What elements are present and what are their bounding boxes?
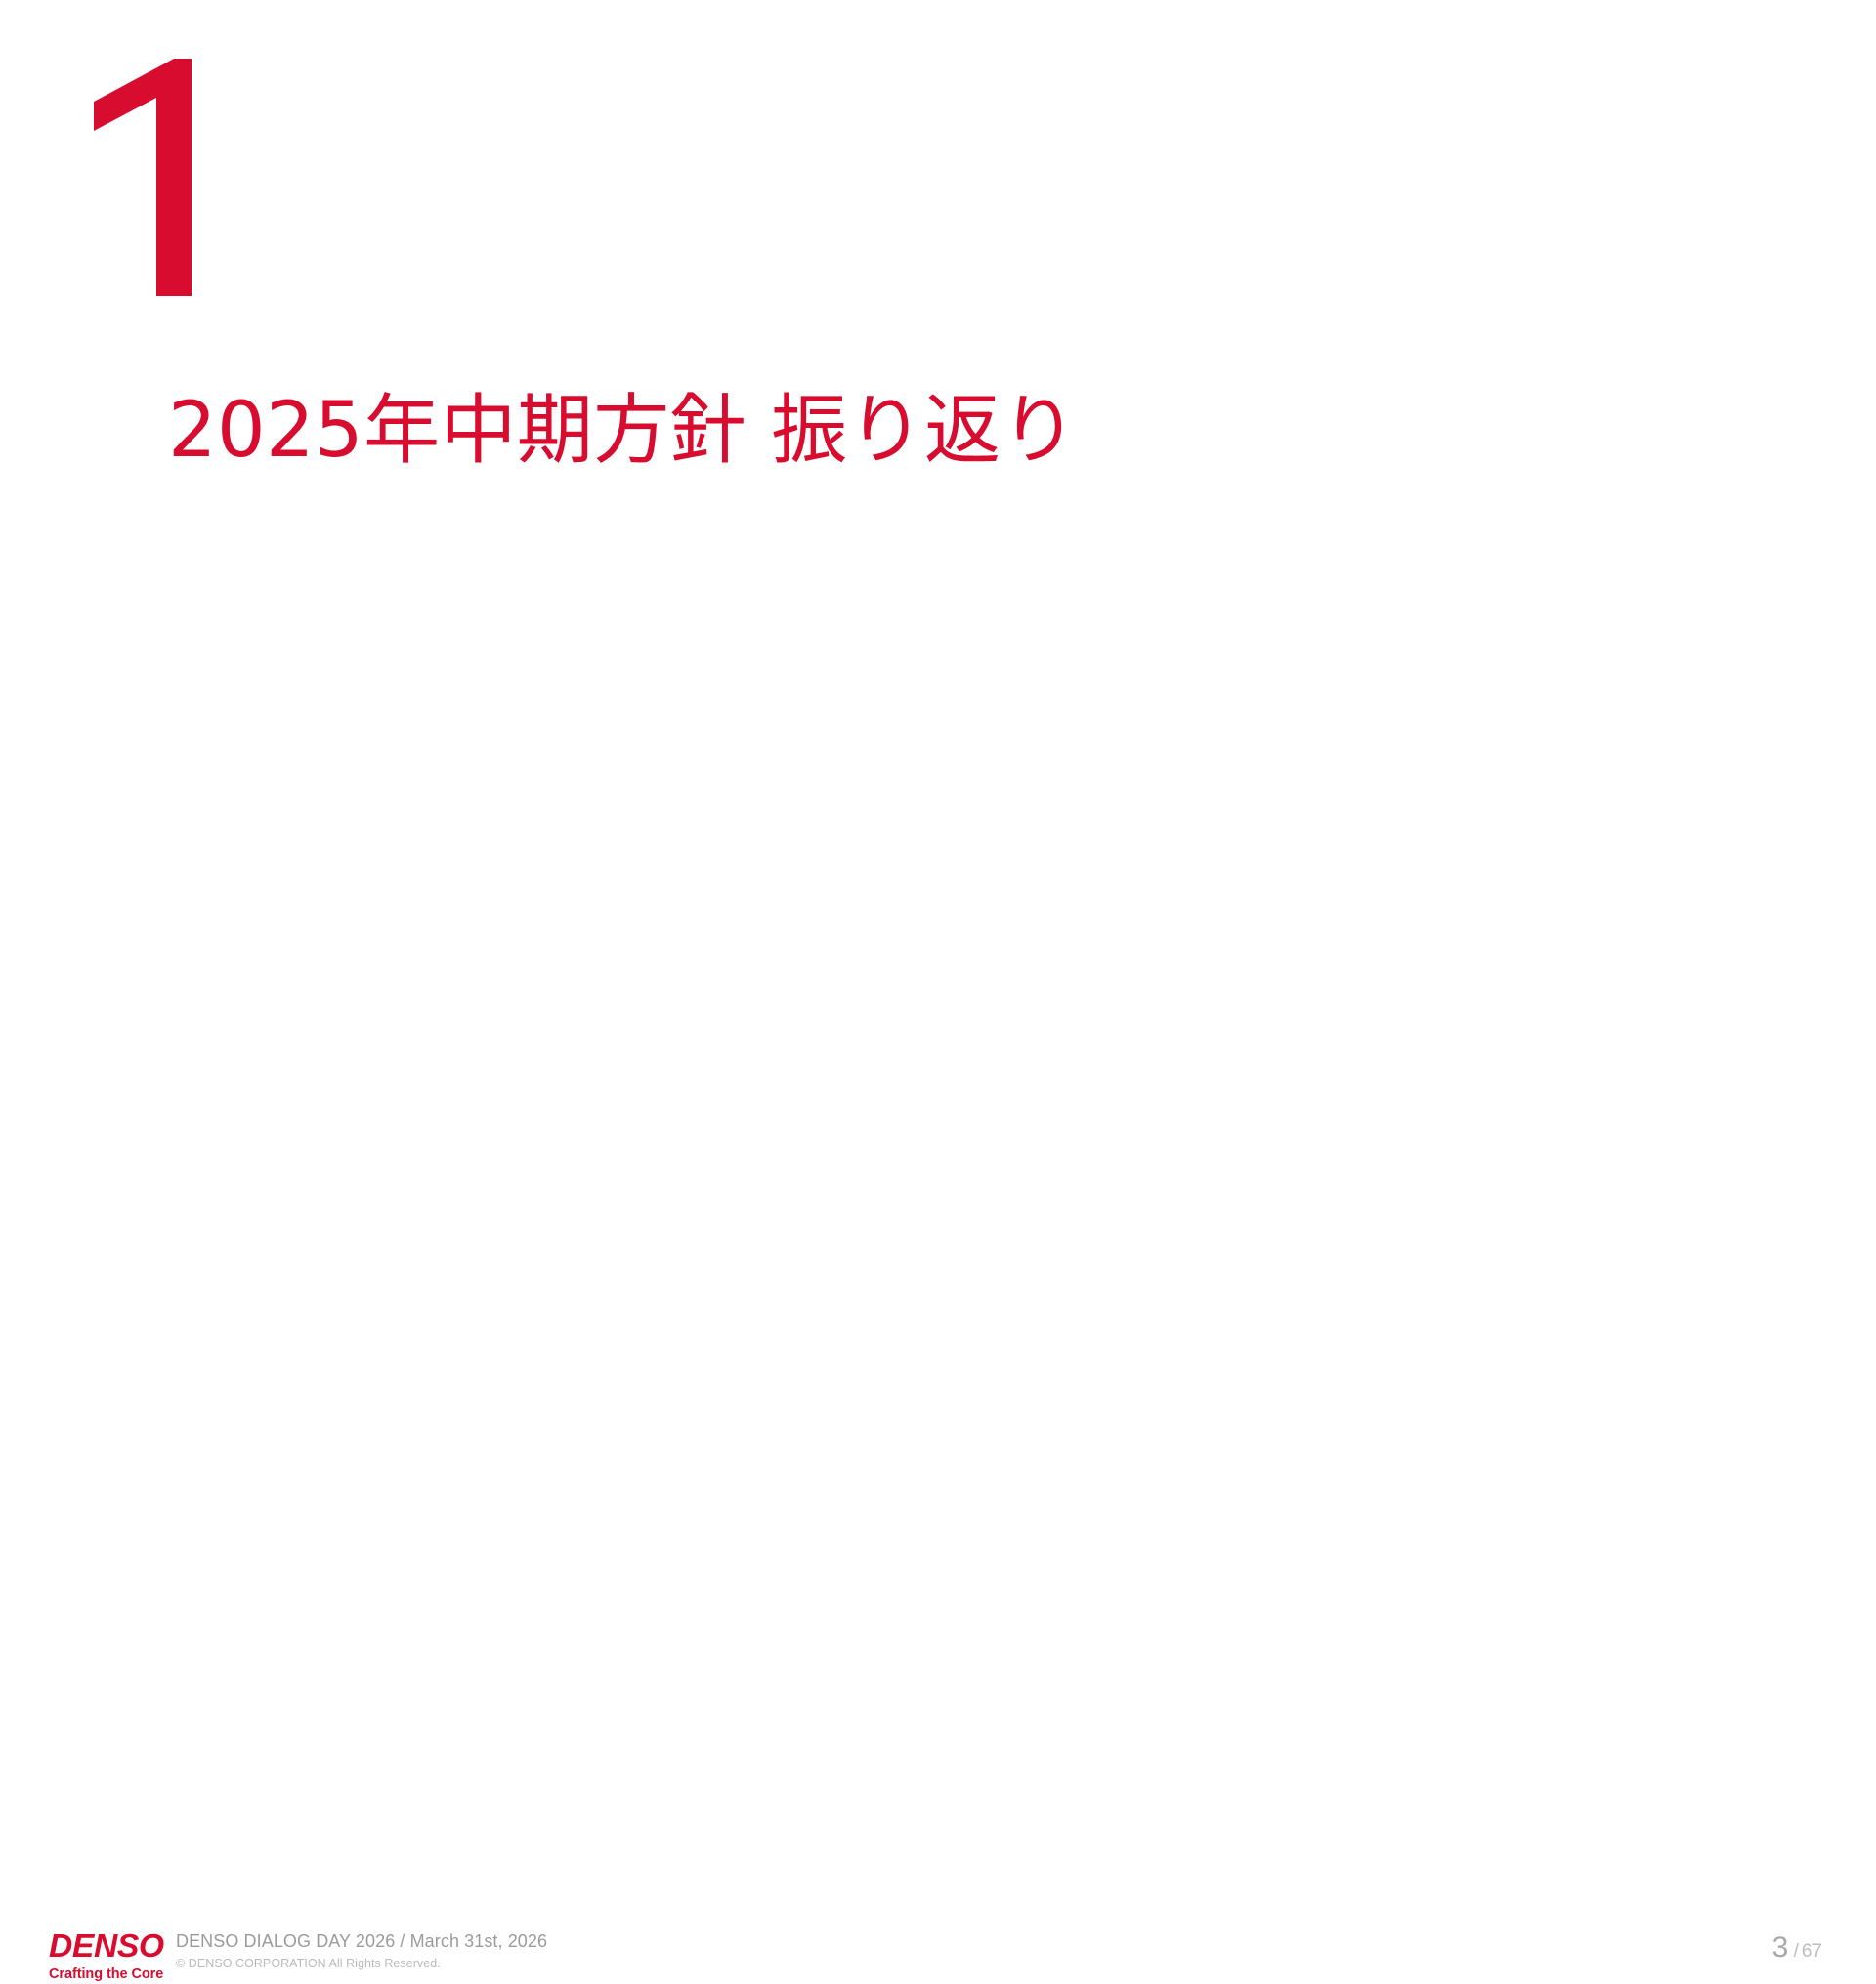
denso-wordmark: DENSO xyxy=(49,1929,166,1962)
page-indicator: 3 / 67 xyxy=(1772,1932,1822,1967)
page-title: 2025年中期方針 振り返り xyxy=(168,389,1078,474)
slide-footer: DENSO Crafting the Core DENSO DIALOG DAY… xyxy=(0,948,1876,1055)
event-info-text: DENSO DIALOG DAY 2026 / March 31st, 2026 xyxy=(176,1930,860,1953)
slide-canvas: 1 2025年中期方針 振り返り DENSO Crafting the Core… xyxy=(0,0,1876,1055)
section-number: 1 xyxy=(76,18,233,340)
page-number-current: 3 xyxy=(1772,1932,1789,1963)
denso-logo: DENSO Crafting the Core xyxy=(49,1929,164,1984)
page-number-total: 67 xyxy=(1802,1936,1822,1967)
copyright-text: © DENSO CORPORATION All Rights Reserved. xyxy=(176,1956,860,1971)
page-number-separator: / xyxy=(1794,1936,1799,1967)
denso-tagline: Crafting the Core xyxy=(49,1966,164,1982)
footer-meta: DENSO DIALOG DAY 2026 / March 31st, 2026… xyxy=(176,1930,860,1971)
section-number-glyph xyxy=(76,18,233,340)
